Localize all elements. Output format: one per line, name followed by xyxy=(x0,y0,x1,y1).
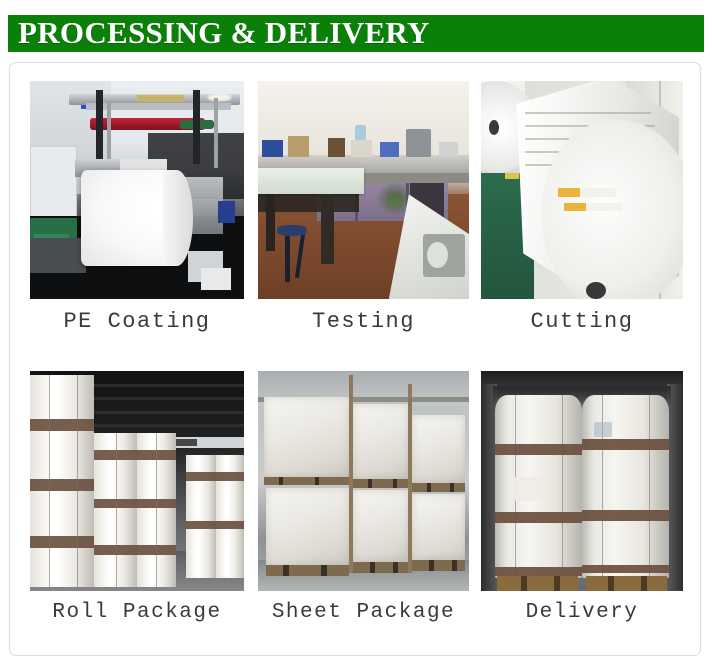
caption-sheet-package: Sheet Package xyxy=(258,601,469,624)
section-header-banner: PROCESSING & DELIVERY xyxy=(8,15,704,52)
roll-package-photo[interactable] xyxy=(30,371,244,591)
gallery-cell-sheet-package[interactable]: Sheet Package xyxy=(258,371,469,624)
testing-photo[interactable] xyxy=(258,81,469,299)
caption-cutting: Cutting xyxy=(481,309,683,334)
pe-coating-photo[interactable] xyxy=(30,81,244,299)
delivery-photo[interactable] xyxy=(481,371,683,591)
gallery-cell-testing[interactable]: Testing xyxy=(258,81,469,334)
caption-delivery: Delivery xyxy=(481,601,683,624)
caption-testing: Testing xyxy=(258,309,469,334)
gallery-cell-pe-coating[interactable]: PE Coating xyxy=(30,81,244,334)
caption-roll-package: Roll Package xyxy=(30,601,244,624)
gallery-card: PE Coating xyxy=(9,62,701,656)
gallery-cell-cutting[interactable]: Cutting xyxy=(481,81,683,334)
cutting-photo[interactable] xyxy=(481,81,683,299)
sheet-package-photo[interactable] xyxy=(258,371,469,591)
caption-pe-coating: PE Coating xyxy=(30,309,244,334)
page-title: PROCESSING & DELIVERY xyxy=(18,15,430,52)
gallery-cell-roll-package[interactable]: Roll Package xyxy=(30,371,244,624)
gallery-cell-delivery[interactable]: Delivery xyxy=(481,371,683,624)
